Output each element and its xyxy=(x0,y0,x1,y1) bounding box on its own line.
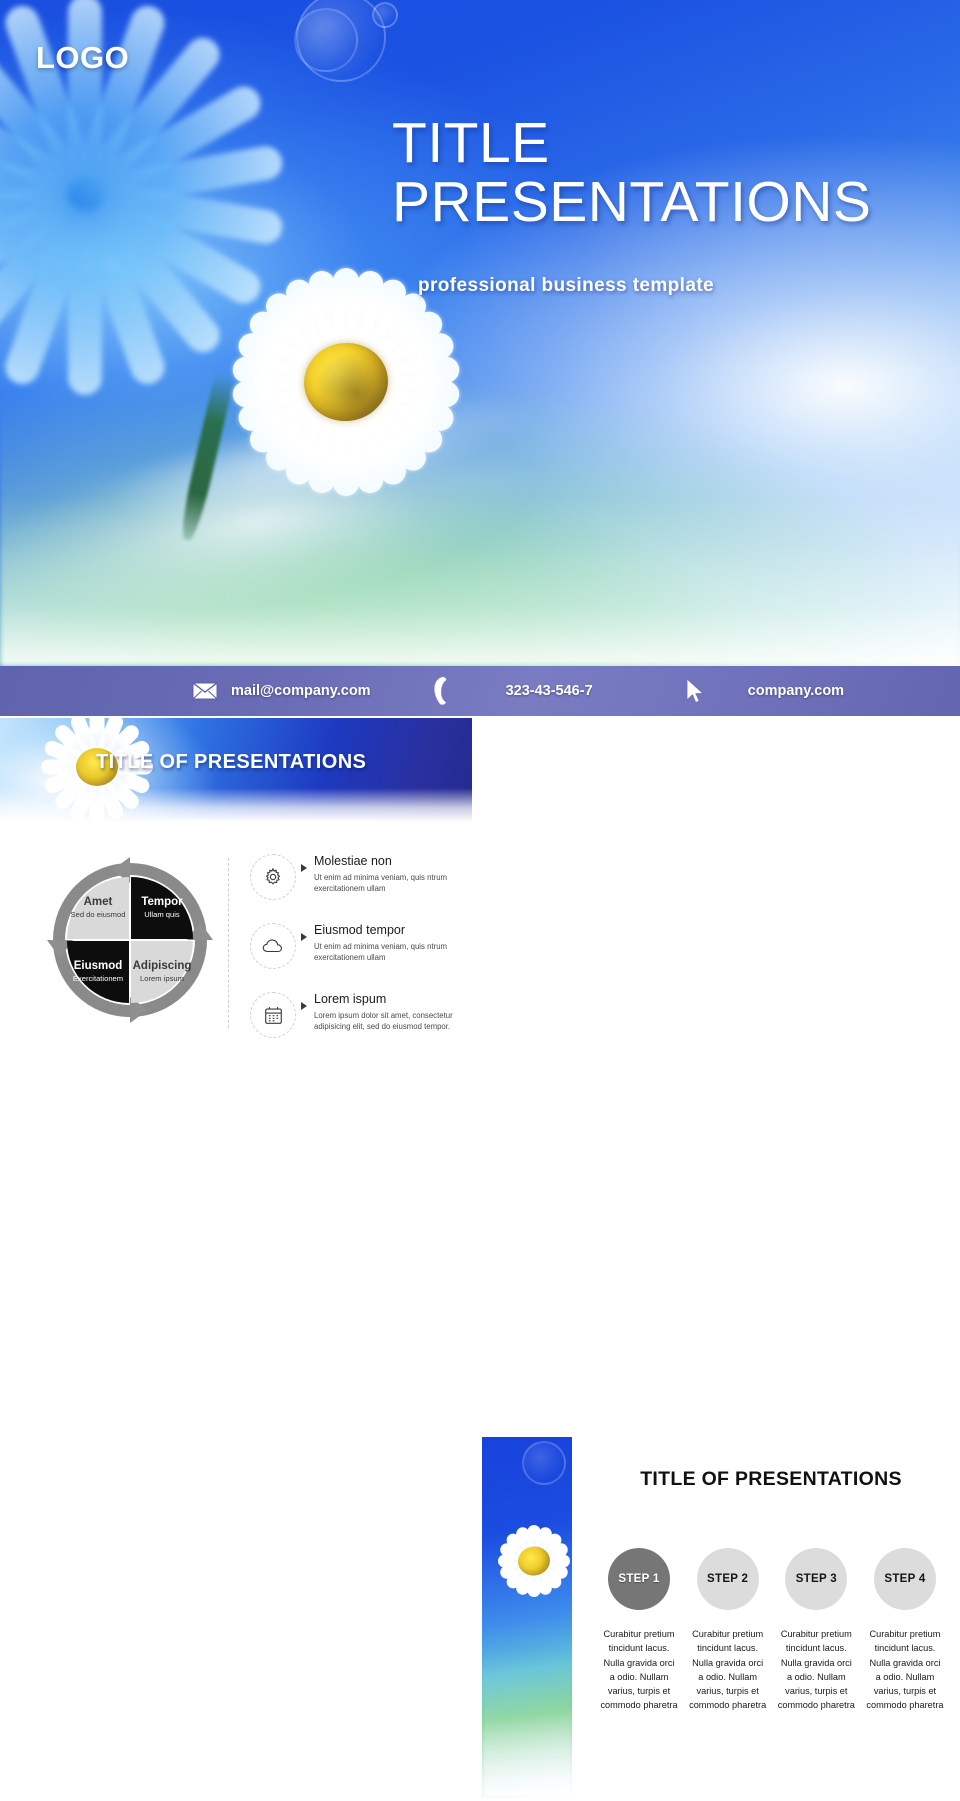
cursor-arrow-icon xyxy=(685,678,705,704)
step-badge[interactable]: STEP 2 xyxy=(697,1548,759,1610)
slide-cycle-diagram[interactable]: TITLE OF PRESENTATIONS Amet Sed do eiusm… xyxy=(0,718,472,1083)
flower-petal xyxy=(482,1455,509,1486)
cloud-icon xyxy=(250,923,296,969)
lens-flare-bubble xyxy=(294,8,358,72)
contact-phone[interactable]: 323-43-546-7 xyxy=(429,676,593,706)
list-item-text: Eiusmod tempor Ut enim ad minima veniam,… xyxy=(312,921,465,964)
chevron-right-icon xyxy=(296,1002,312,1010)
flower-petal xyxy=(487,1439,497,1494)
steps-row: STEP 1 Curabitur pretium tincidunt lacus… xyxy=(600,1548,944,1713)
cycle-diagram[interactable]: Amet Sed do eiusmod Tempor Ullam quis Ei… xyxy=(45,855,215,1025)
hero-background-image xyxy=(0,0,960,666)
list-item[interactable]: Molestiae non Ut enim ad minima veniam, … xyxy=(250,852,465,900)
slide-header-banner: TITLE OF PRESENTATIONS xyxy=(0,718,472,822)
contact-website-value: company.com xyxy=(748,683,844,699)
step-badge[interactable]: STEP 3 xyxy=(785,1548,847,1610)
quadrant-label: Adipiscing xyxy=(133,960,192,973)
chevron-right-icon xyxy=(296,864,312,872)
step-description: Curabitur pretium tincidunt lacus. Nulla… xyxy=(866,1627,944,1713)
step-description: Curabitur pretium tincidunt lacus. Nulla… xyxy=(777,1627,855,1713)
flower-petal xyxy=(482,1446,507,1492)
flower-petal xyxy=(482,1455,514,1486)
hero-subtitle: professional business template xyxy=(418,275,714,297)
slide-left-title: TITLE OF PRESENTATIONS xyxy=(96,751,366,774)
slide-thumbnails-row: TITLE OF PRESENTATIONS Amet Sed do eiusm… xyxy=(0,716,960,1085)
flower-image-strip xyxy=(482,1437,572,1798)
step-item-3[interactable]: STEP 3 Curabitur pretium tincidunt lacus… xyxy=(777,1548,855,1713)
contact-website[interactable]: company.com xyxy=(685,678,844,704)
vertical-divider xyxy=(228,858,229,1028)
cycle-arrow-ring xyxy=(45,855,215,1025)
list-item-heading: Eiusmod tempor xyxy=(314,923,405,937)
envelope-icon xyxy=(192,682,218,700)
contact-bar: mail@company.com 323-43-546-7 company.co… xyxy=(0,666,960,716)
quadrant-label: Eiusmod xyxy=(74,960,123,973)
title-line-1: TITLE xyxy=(392,111,550,175)
quadrant-sublabel: Sed do eiusmod xyxy=(71,911,126,920)
logo-text: LOGO xyxy=(36,40,129,76)
contact-email[interactable]: mail@company.com xyxy=(192,682,371,700)
list-item[interactable]: Lorem ispum Lorem ipsum dolor sit amet, … xyxy=(250,990,465,1038)
page-title: TITLE PRESENTATIONS xyxy=(392,114,938,231)
title-line-2: PRESENTATIONS xyxy=(392,173,938,232)
flower-petal xyxy=(482,1466,516,1477)
hero-slide[interactable]: LOGO TITLE PRESENTATIONS professional bu… xyxy=(0,0,960,666)
quadrant-label: Amet xyxy=(84,896,113,909)
step-badge[interactable]: STEP 4 xyxy=(874,1548,936,1610)
slide-right-title: TITLE OF PRESENTATIONS xyxy=(582,1468,960,1491)
list-item[interactable]: Eiusmod tempor Ut enim ad minima veniam,… xyxy=(250,921,465,969)
strip-daisy-flower xyxy=(488,1515,572,1607)
step-item-4[interactable]: STEP 4 Curabitur pretium tincidunt lacus… xyxy=(866,1548,944,1713)
strip-bottom-haze xyxy=(482,1648,572,1798)
quadrant-sublabel: Ullam quis xyxy=(144,911,179,920)
list-item-body: Ut enim ad minima veniam, quis ntrum exe… xyxy=(314,872,465,895)
list-item-text: Lorem ispum Lorem ipsum dolor sit amet, … xyxy=(312,990,465,1033)
contact-email-value: mail@company.com xyxy=(231,683,371,699)
flower-petal xyxy=(482,1466,515,1477)
step-item-1[interactable]: STEP 1 Curabitur pretium tincidunt lacus… xyxy=(600,1548,678,1713)
bullet-list: Molestiae non Ut enim ad minima veniam, … xyxy=(250,852,465,1059)
lens-flare-bubble xyxy=(372,2,398,28)
gear-icon xyxy=(250,854,296,900)
list-item-text: Molestiae non Ut enim ad minima veniam, … xyxy=(312,852,465,895)
contact-phone-value: 323-43-546-7 xyxy=(506,683,593,699)
quadrant-sublabel: Exercitationem xyxy=(73,975,123,984)
step-badge[interactable]: STEP 1 xyxy=(608,1548,670,1610)
list-item-heading: Molestiae non xyxy=(314,854,392,868)
list-item-body: Lorem ipsum dolor sit amet, consectetur … xyxy=(314,1010,465,1033)
presentation-preview-page: LOGO TITLE PRESENTATIONS professional bu… xyxy=(0,0,960,1085)
step-description: Curabitur pretium tincidunt lacus. Nulla… xyxy=(689,1627,767,1713)
quadrant-label: Tempor xyxy=(141,896,182,909)
step-description: Curabitur pretium tincidunt lacus. Nulla… xyxy=(600,1627,678,1713)
list-item-heading: Lorem ispum xyxy=(314,992,386,1006)
quadrant-sublabel: Lorem ipsum xyxy=(140,975,184,984)
flower-petal xyxy=(482,1440,490,1495)
flower-petal xyxy=(68,0,102,205)
chevron-right-icon xyxy=(296,933,312,941)
list-item-body: Ut enim ad minima veniam, quis ntrum exe… xyxy=(314,941,465,964)
calendar-icon xyxy=(250,992,296,1038)
step-item-2[interactable]: STEP 2 Curabitur pretium tincidunt lacus… xyxy=(689,1548,767,1713)
phone-icon xyxy=(429,676,449,706)
flower-petal xyxy=(482,1446,501,1492)
flower-petal xyxy=(486,1440,498,1495)
slide-steps[interactable]: TITLE OF PRESENTATIONS STEP 1 Curabitur … xyxy=(582,1432,960,1801)
